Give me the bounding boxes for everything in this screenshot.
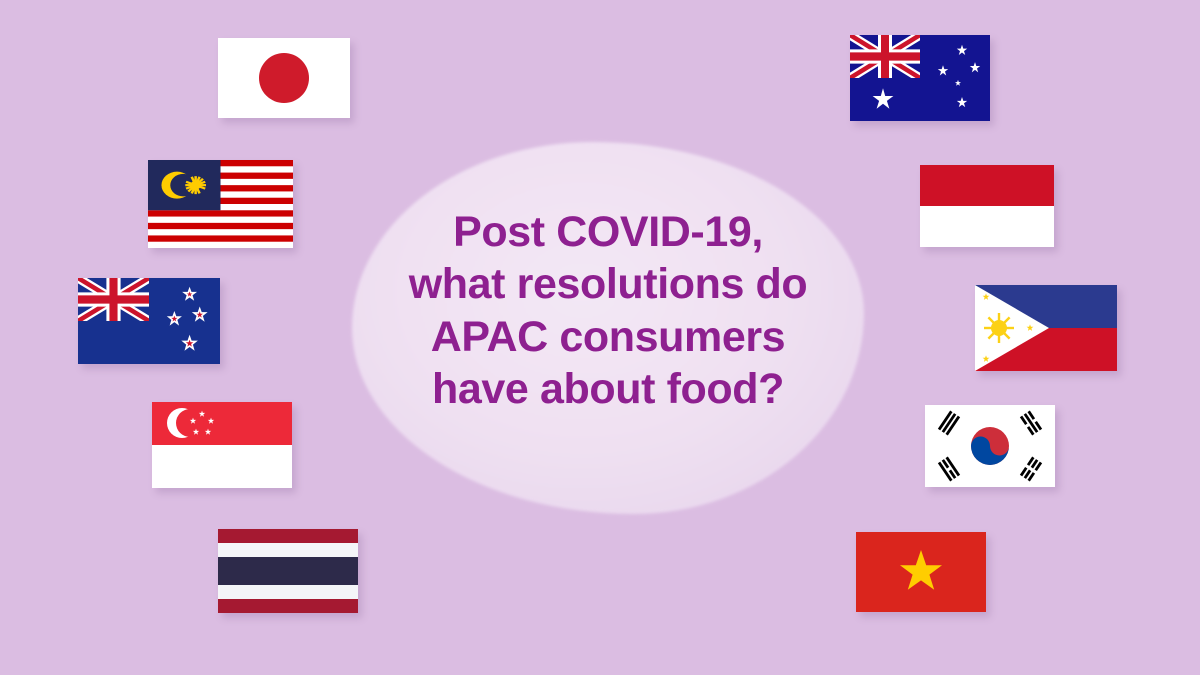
flag-australia-icon [850,35,990,121]
flag-south-korea-icon [925,405,1055,487]
flag-malaysia-icon [148,160,293,248]
flag-new-zealand-icon [78,278,220,364]
page-title: Post COVID-19, what resolutions do APAC … [352,206,864,416]
flag-japan-icon [218,38,350,118]
flag-thailand-icon [218,529,358,613]
flag-philippines-icon [975,285,1117,371]
poster-canvas: Post COVID-19, what resolutions do APAC … [0,0,1200,675]
flag-indonesia-icon [920,165,1054,247]
flag-singapore-icon [152,402,292,488]
flag-vietnam-icon [856,532,986,612]
